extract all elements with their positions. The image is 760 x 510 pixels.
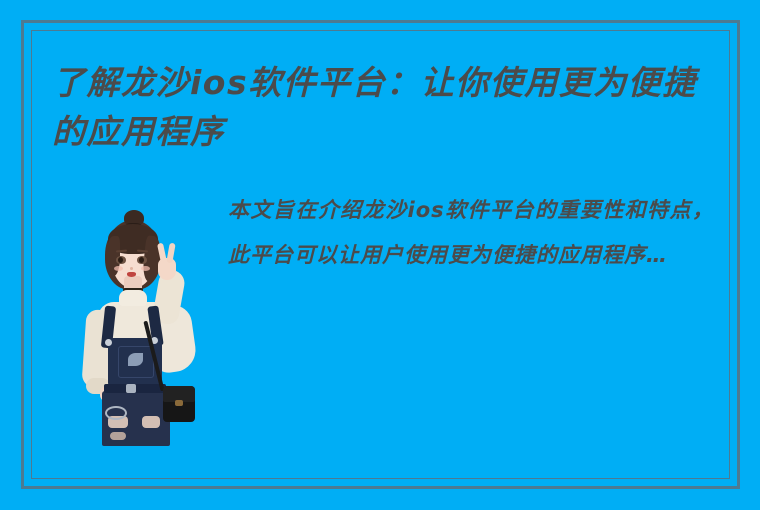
- page-title: 了解龙沙ios软件平台：让你使用更为便捷的应用程序: [52, 58, 717, 156]
- turtleneck-collar: [119, 290, 147, 306]
- denim-rip-lower: [110, 432, 126, 440]
- belt-buckle: [126, 384, 136, 393]
- denim-rip-right: [142, 416, 160, 428]
- mouth: [127, 272, 136, 277]
- strap-buckle-left: [105, 339, 112, 346]
- bib-emblem: [128, 353, 143, 366]
- article-summary: 本文旨在介绍龙沙ios软件平台的重要性和特点，此平台可以让用户使用更为便捷的应用…: [228, 188, 714, 278]
- blush-right: [141, 266, 150, 271]
- pupil-left: [118, 257, 123, 263]
- nose: [130, 267, 133, 270]
- article-banner: 了解龙沙ios软件平台：让你使用更为便捷的应用程序 本文旨在介绍龙沙ios软件平…: [0, 0, 760, 510]
- pupil-right: [139, 257, 144, 263]
- girl-illustration: [78, 210, 196, 446]
- blush-left: [114, 266, 123, 271]
- pocket-chain: [105, 406, 127, 420]
- bag-clasp: [175, 400, 183, 406]
